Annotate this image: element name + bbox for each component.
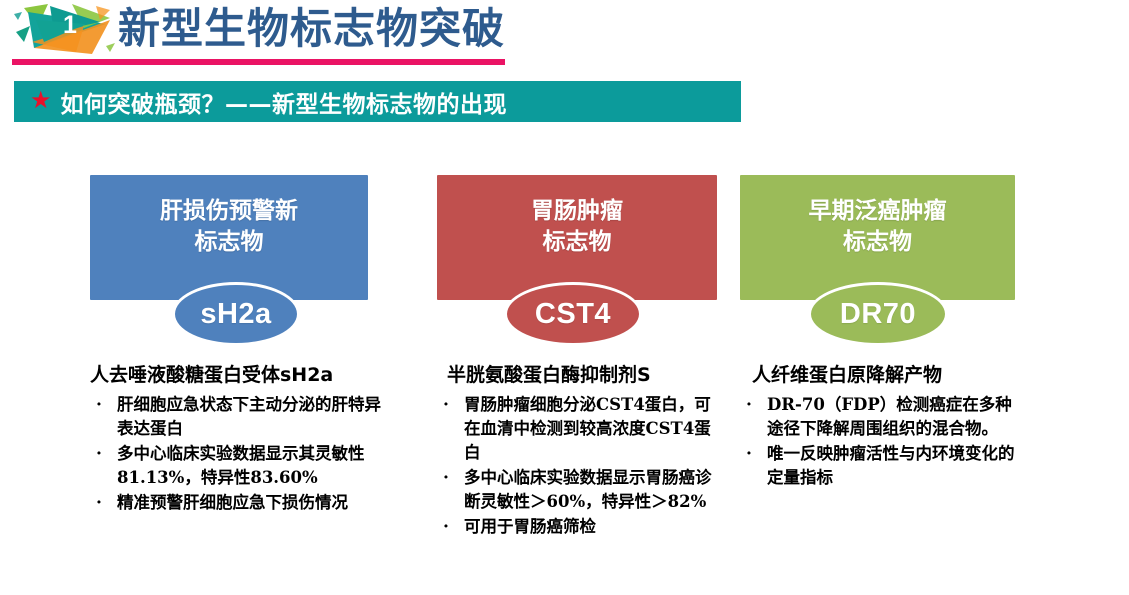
card-heading-line-1: 早期泛癌肿瘤	[740, 196, 1015, 227]
section-banner: ★ 如何突破瓶颈？——新型生物标志物的出现	[14, 81, 741, 122]
bullet-marker-icon: ·	[443, 466, 449, 490]
list-item: ·唯一反映肿瘤活性与内环境变化的定量指标	[740, 442, 1020, 490]
card-heading: 胃肠肿瘤 标志物	[437, 175, 717, 258]
list-item-text: 肝细胞应急状态下主动分泌的肝特异表达蛋白	[117, 395, 381, 438]
bullet-list: ·DR-70（FDP）检测癌症在多种途径下降解周围组织的混合物。 ·唯一反映肿瘤…	[740, 393, 1020, 491]
slide-header: 1 新型生物标志物突破	[0, 0, 1129, 75]
page-title: 新型生物标志物突破	[118, 3, 505, 55]
biomarker-column-sh2a: 肝损伤预警新 标志物 sH2a 人去唾液酸糖蛋白受体sH2a ·肝细胞应急状态下…	[90, 175, 430, 345]
biomarker-column-dr70: 早期泛癌肿瘤 标志物 DR70 人纤维蛋白原降解产物 ·DR-70（FDP）检测…	[740, 175, 1040, 345]
star-icon: ★	[30, 89, 52, 113]
list-item-text: 多中心临床实验数据显示其灵敏性81.13%，特异性83.60%	[117, 444, 365, 487]
bullet-marker-icon: ·	[443, 515, 449, 539]
card-cst4: 胃肠肿瘤 标志物 CST4	[437, 175, 737, 345]
list-item: ·肝细胞应急状态下主动分泌的肝特异表达蛋白	[90, 393, 390, 441]
list-item: ·DR-70（FDP）检测癌症在多种途径下降解周围组织的混合物。	[740, 393, 1020, 441]
card-heading-line-1: 肝损伤预警新	[90, 196, 368, 227]
bullet-list: ·胃肠肿瘤细胞分泌CST4蛋白，可在血清中检测到较高浓度CST4蛋白 ·多中心临…	[437, 393, 727, 540]
list-item: ·胃肠肿瘤细胞分泌CST4蛋白，可在血清中检测到较高浓度CST4蛋白	[437, 393, 727, 465]
column-title: 半胱氨酸蛋白酶抑制剂S	[447, 360, 651, 387]
card-sh2a: 肝损伤预警新 标志物 sH2a	[90, 175, 430, 345]
biomarker-column-cst4: 胃肠肿瘤 标志物 CST4 半胱氨酸蛋白酶抑制剂S ·胃肠肿瘤细胞分泌CST4蛋…	[437, 175, 737, 345]
list-item-text: 唯一反映肿瘤活性与内环境变化的定量指标	[767, 444, 1015, 487]
section-banner-text: 如何突破瓶颈？——新型生物标志物的出现	[61, 85, 508, 119]
list-item: ·多中心临床实验数据显示胃肠癌诊断灵敏性＞60%，特异性＞82%	[437, 466, 727, 514]
list-item: ·可用于胃肠癌筛检	[437, 515, 727, 539]
card-heading-line-1: 胃肠肿瘤	[437, 196, 717, 227]
card-badge-ellipse: sH2a	[172, 282, 300, 346]
bullet-marker-icon: ·	[746, 393, 752, 417]
list-item-text: 可用于胃肠癌筛检	[464, 517, 596, 536]
geometric-triangles-logo-icon: 1	[14, 2, 119, 60]
card-badge-ellipse: DR70	[808, 282, 948, 346]
column-title: 人纤维蛋白原降解产物	[752, 360, 942, 387]
logo-number: 1	[58, 11, 82, 39]
card-badge-ellipse: CST4	[504, 282, 642, 346]
list-item-text: 多中心临床实验数据显示胃肠癌诊断灵敏性＞60%，特异性＞82%	[464, 468, 712, 511]
column-title: 人去唾液酸糖蛋白受体sH2a	[90, 360, 333, 387]
title-underline	[12, 59, 505, 65]
card-dr70: 早期泛癌肿瘤 标志物 DR70	[740, 175, 1040, 345]
card-heading: 早期泛癌肿瘤 标志物	[740, 175, 1015, 258]
list-item-text: 精准预警肝细胞应急下损伤情况	[117, 493, 348, 512]
list-item: ·多中心临床实验数据显示其灵敏性81.13%，特异性83.60%	[90, 442, 390, 490]
bullet-marker-icon: ·	[96, 442, 102, 466]
bullet-list: ·肝细胞应急状态下主动分泌的肝特异表达蛋白 ·多中心临床实验数据显示其灵敏性81…	[90, 393, 390, 516]
card-heading-line-2: 标志物	[437, 227, 717, 258]
bullet-marker-icon: ·	[96, 491, 102, 515]
bullet-marker-icon: ·	[96, 393, 102, 417]
card-heading: 肝损伤预警新 标志物	[90, 175, 368, 258]
card-heading-line-2: 标志物	[740, 227, 1015, 258]
list-item-text: DR-70（FDP）检测癌症在多种途径下降解周围组织的混合物。	[767, 395, 1012, 438]
list-item: ·精准预警肝细胞应急下损伤情况	[90, 491, 390, 515]
bullet-marker-icon: ·	[746, 442, 752, 466]
list-item-text: 胃肠肿瘤细胞分泌CST4蛋白，可在血清中检测到较高浓度CST4蛋白	[464, 395, 711, 462]
bullet-marker-icon: ·	[443, 393, 449, 417]
card-heading-line-2: 标志物	[90, 227, 368, 258]
